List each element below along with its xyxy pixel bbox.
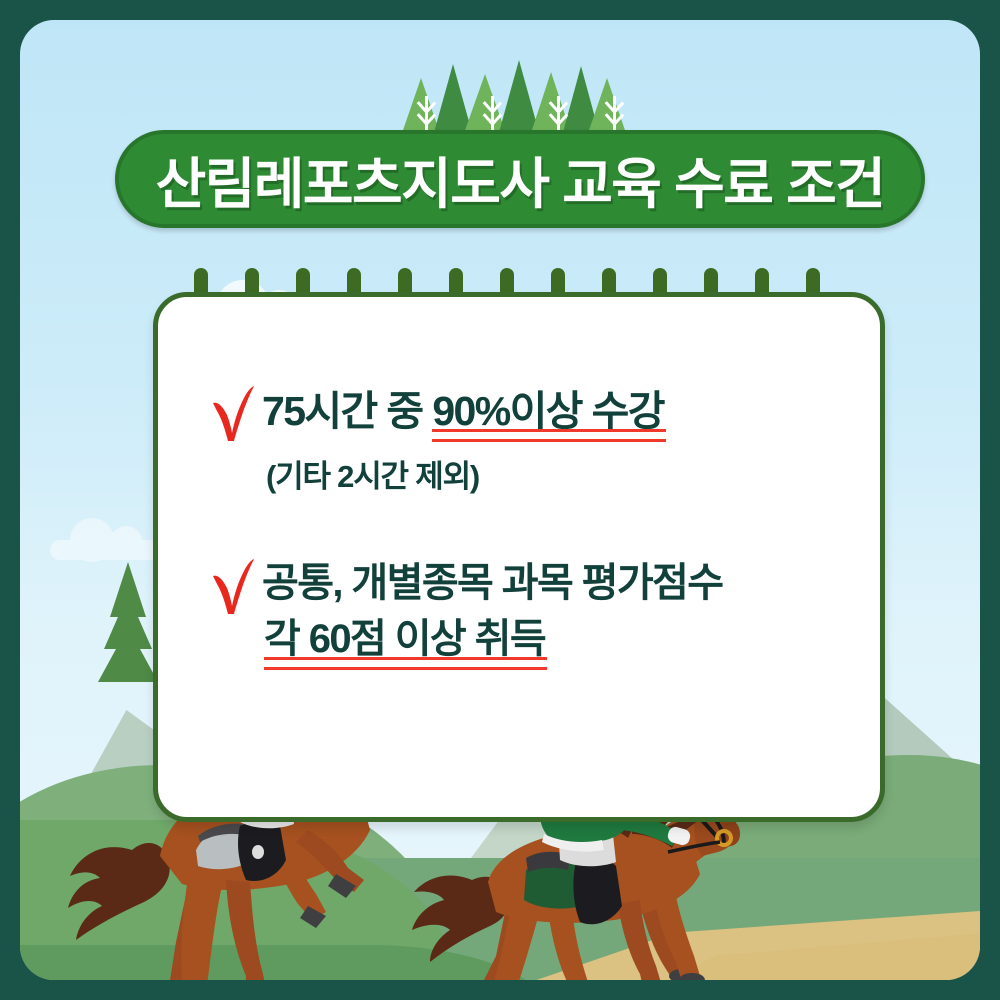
branch-vein <box>613 96 616 134</box>
bullet-1-main-line: 75시간 중 90%이상 수강 <box>262 387 664 437</box>
list-item-text: 공통, 개별종목 과목 평가점수 각 60점 이상 취득 <box>262 558 722 664</box>
note-content: 75시간 중 90%이상 수강 (기타 2시간 제외) 공통, 개별종목 과목 … <box>210 385 850 665</box>
title-banner: 산림레포츠지도사 교육 수료 조건 <box>115 130 925 228</box>
list-item: 공통, 개별종목 과목 평가점수 각 60점 이상 취득 <box>210 558 850 664</box>
list-item: 75시간 중 90%이상 수강 (기타 2시간 제외) <box>210 385 850 496</box>
note-card: 75시간 중 90%이상 수강 (기타 2시간 제외) 공통, 개별종목 과목 … <box>153 292 885 822</box>
poster-root: 산림레포츠지도사 교육 수료 조건 75시간 중 90%이상 수강 (기타 2시… <box>0 0 1000 1000</box>
bullet-2-line-2: 각 60점 이상 취득 <box>264 616 722 665</box>
bullet-1-sub-line: (기타 2시간 제외) <box>266 451 664 496</box>
poster-stage: 산림레포츠지도사 교육 수료 조건 75시간 중 90%이상 수강 (기타 2시… <box>20 20 980 980</box>
cloud-icon <box>50 540 160 560</box>
bullet-2-underlined-text: 각 60점 이상 취득 <box>264 616 545 665</box>
list-item-text: 75시간 중 90%이상 수강 (기타 2시간 제외) <box>262 385 664 496</box>
branch-vein <box>425 96 428 134</box>
bullet-1-underlined-text: 90%이상 수강 <box>432 387 664 437</box>
pine-tree-icon <box>587 78 627 136</box>
red-check-icon <box>210 558 256 614</box>
page-title: 산림레포츠지도사 교육 수료 조건 <box>156 139 885 219</box>
bullet-1-plain-text: 75시간 중 <box>262 388 432 434</box>
branch-vein <box>557 96 560 134</box>
branch-vein <box>491 96 494 134</box>
bullet-2-line-1: 공통, 개별종목 과목 평가점수 <box>262 560 722 607</box>
red-check-icon <box>210 385 256 441</box>
